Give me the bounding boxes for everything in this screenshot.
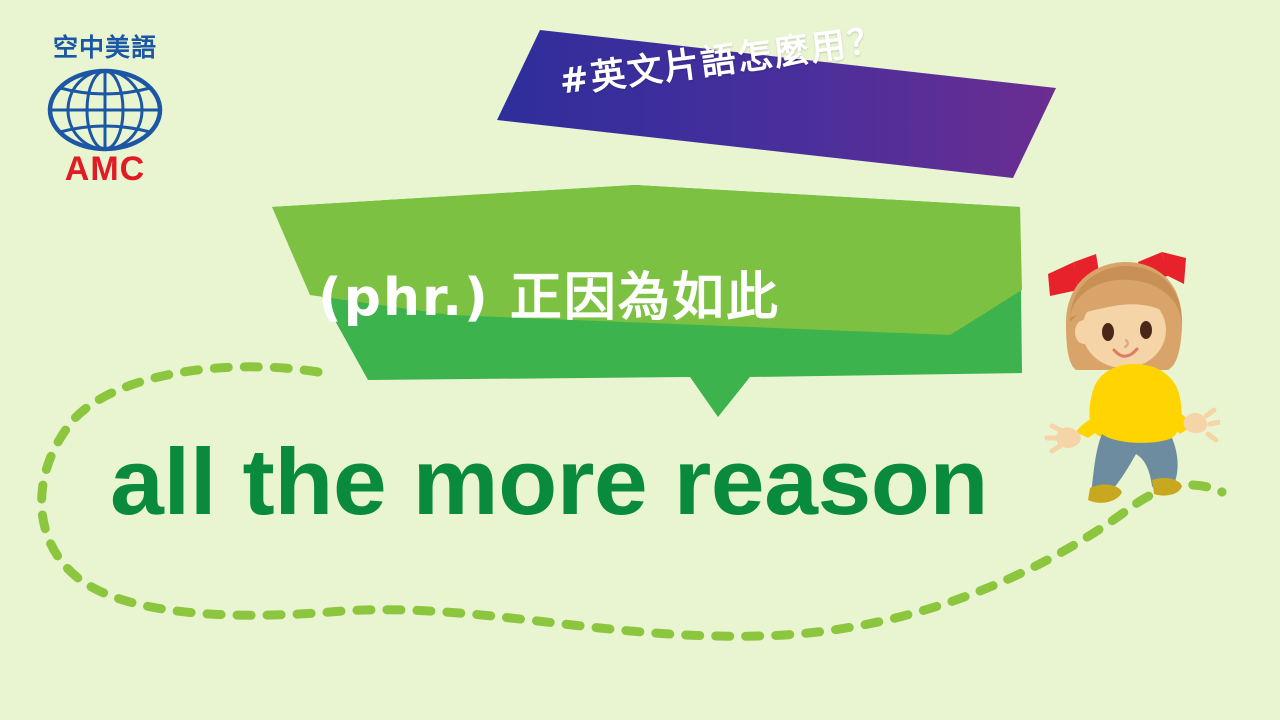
- cartoon-girl-illustration: [1030, 248, 1220, 513]
- slide-canvas: 空中美語 AMC #英文片語怎麼用？ (phr.) 正因為如此: [0, 0, 1280, 720]
- left-shoe: [1088, 485, 1122, 503]
- logo-chinese-name: 空中美語: [30, 34, 180, 62]
- right-shoe: [1152, 478, 1182, 496]
- bubble-text: (phr.) 正因為如此: [318, 268, 1018, 328]
- left-eye: [1102, 323, 1114, 341]
- left-hand: [1047, 426, 1081, 451]
- right-eye: [1140, 321, 1152, 339]
- logo-acronym: AMC: [30, 152, 180, 186]
- right-hand: [1184, 410, 1220, 440]
- ear-shape: [1075, 320, 1093, 344]
- globe-icon: [46, 68, 164, 152]
- shirt-shape: [1089, 364, 1181, 444]
- amc-logo: 空中美語 AMC: [30, 34, 180, 184]
